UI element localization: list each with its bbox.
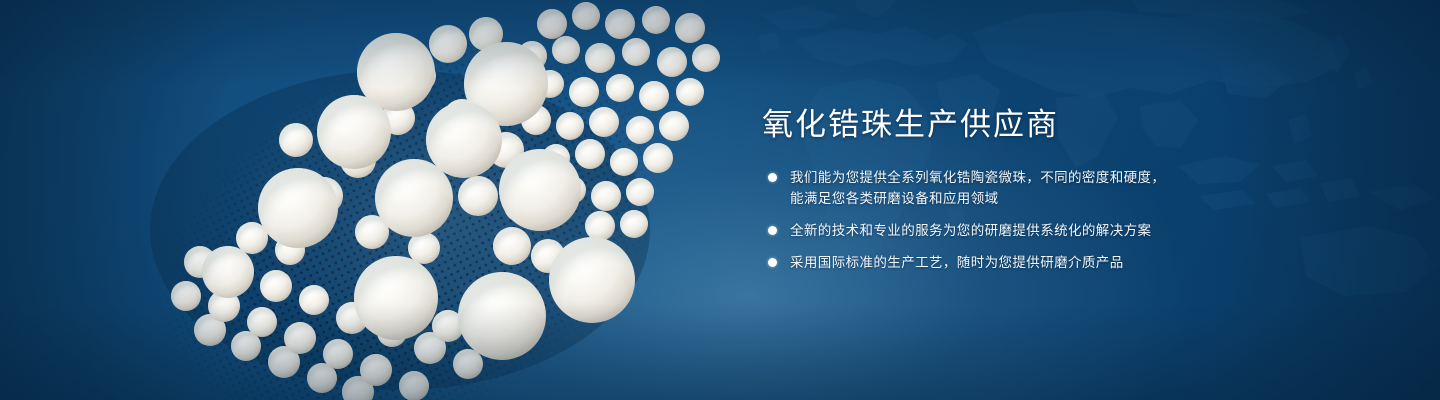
bullet-dot-icon bbox=[768, 226, 777, 235]
feature-bullet-item: 我们能为您提供全系列氧化锆陶瓷微珠，不同的密度和硬度， 能满足您各类研磨设备和应… bbox=[762, 167, 1232, 209]
feature-bullet-item: 采用国际标准的生产工艺，随时为您提供研磨介质产品 bbox=[762, 252, 1232, 273]
banner-copy: 氧化锆珠生产供应商 我们能为您提供全系列氧化锆陶瓷微珠，不同的密度和硬度， 能满… bbox=[762, 106, 1232, 273]
bullet-dot-icon bbox=[768, 258, 777, 267]
bullet-line: 我们能为您提供全系列氧化锆陶瓷微珠，不同的密度和硬度， bbox=[790, 167, 1232, 188]
bullet-dot-icon bbox=[768, 173, 777, 182]
banner-headline: 氧化锆珠生产供应商 bbox=[762, 106, 1232, 143]
feature-bullet-list: 我们能为您提供全系列氧化锆陶瓷微珠，不同的密度和硬度， 能满足您各类研磨设备和应… bbox=[762, 167, 1232, 273]
feature-bullet-item: 全新的技术和专业的服务为您的研磨提供系统化的解决方案 bbox=[762, 220, 1232, 241]
bullet-line: 全新的技术和专业的服务为您的研磨提供系统化的解决方案 bbox=[790, 220, 1232, 241]
bullet-line: 采用国际标准的生产工艺，随时为您提供研磨介质产品 bbox=[790, 252, 1232, 273]
bullet-line: 能满足您各类研磨设备和应用领域 bbox=[790, 188, 1232, 209]
hero-banner: 氧化锆珠生产供应商 我们能为您提供全系列氧化锆陶瓷微珠，不同的密度和硬度， 能满… bbox=[0, 0, 1440, 400]
